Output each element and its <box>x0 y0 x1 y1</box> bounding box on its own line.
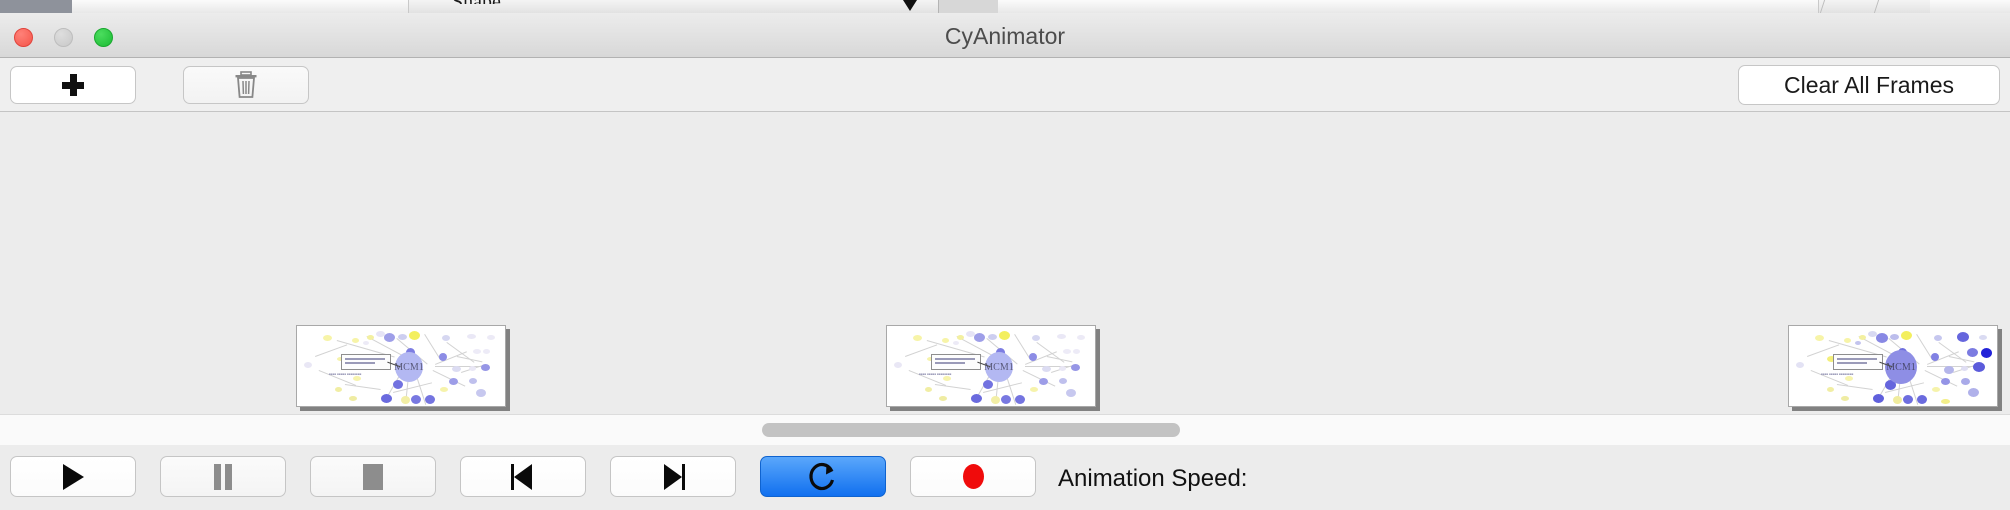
scrollbar-thumb[interactable] <box>762 423 1180 437</box>
background-window-strip: Shape <box>0 0 2010 13</box>
prev-frame-button[interactable] <box>460 456 586 497</box>
background-window-segment <box>292 0 345 13</box>
delete-frame-button[interactable] <box>183 66 309 104</box>
toolbar: Clear All Frames <box>0 58 2010 112</box>
network-callout <box>931 354 981 370</box>
background-window-divider <box>1874 0 1879 13</box>
network-thumbnail-3: MCM1 ■■■■ ■■■■■ ■■■■■■■■ <box>1789 326 1997 406</box>
add-frame-button[interactable] <box>10 66 136 104</box>
playback-bar: Animation Speed: <box>0 445 2010 510</box>
page-title: CyAnimator <box>0 23 2010 50</box>
skip-forward-icon <box>661 464 685 490</box>
plus-icon <box>61 73 85 97</box>
timeline-frame-thumbnail[interactable]: MCM1 ■■■■ ■■■■■ ■■■■■■■■ <box>1788 325 1998 407</box>
record-icon <box>963 464 984 489</box>
network-thumbnail-2: MCM1 ■■■■ ■■■■■ ■■■■■■■■ <box>887 326 1095 406</box>
trash-icon <box>233 70 259 100</box>
background-window-segment <box>238 0 293 13</box>
timeline-scrollbar[interactable] <box>0 414 2010 446</box>
background-window-divider <box>1820 0 1825 13</box>
cyanimator-window: Shape CyAnimator Clear All Fra <box>0 0 2010 510</box>
play-icon <box>63 464 84 490</box>
background-window-dark-segment <box>0 0 72 13</box>
animation-speed-label: Animation Speed: <box>1058 465 1247 493</box>
background-window-segment <box>182 0 239 13</box>
loop-icon <box>808 461 838 493</box>
background-window-segment <box>72 0 183 13</box>
background-window-title: Shape <box>452 0 501 4</box>
pause-button[interactable] <box>160 456 286 497</box>
background-window-segment <box>344 0 409 13</box>
loop-button[interactable] <box>760 456 886 497</box>
timeline-panel[interactable]: MCM1 ■■■■ ■■■■■ ■■■■■■■■ <box>0 112 2010 412</box>
skip-back-icon <box>511 464 535 490</box>
background-window-notch <box>903 0 917 11</box>
clear-all-frames-button[interactable]: Clear All Frames <box>1738 65 2000 105</box>
title-bar: CyAnimator <box>0 13 2010 58</box>
record-button[interactable] <box>910 456 1036 497</box>
pause-icon <box>213 464 233 490</box>
timeline-frame-thumbnail[interactable]: MCM1 ■■■■ ■■■■■ ■■■■■■■■ <box>886 325 1096 407</box>
network-callout <box>1833 354 1883 370</box>
network-thumbnail-1: MCM1 ■■■■ ■■■■■ ■■■■■■■■ <box>297 326 505 406</box>
network-callout <box>341 354 391 370</box>
stop-icon <box>363 464 383 490</box>
background-window-segment <box>1930 0 2010 13</box>
next-frame-button[interactable] <box>610 456 736 497</box>
background-window-segment <box>998 0 1819 13</box>
background-window-box <box>938 0 1000 13</box>
timeline-frame-thumbnail[interactable]: MCM1 ■■■■ ■■■■■ ■■■■■■■■ <box>296 325 506 407</box>
stop-button[interactable] <box>310 456 436 497</box>
play-button[interactable] <box>10 456 136 497</box>
